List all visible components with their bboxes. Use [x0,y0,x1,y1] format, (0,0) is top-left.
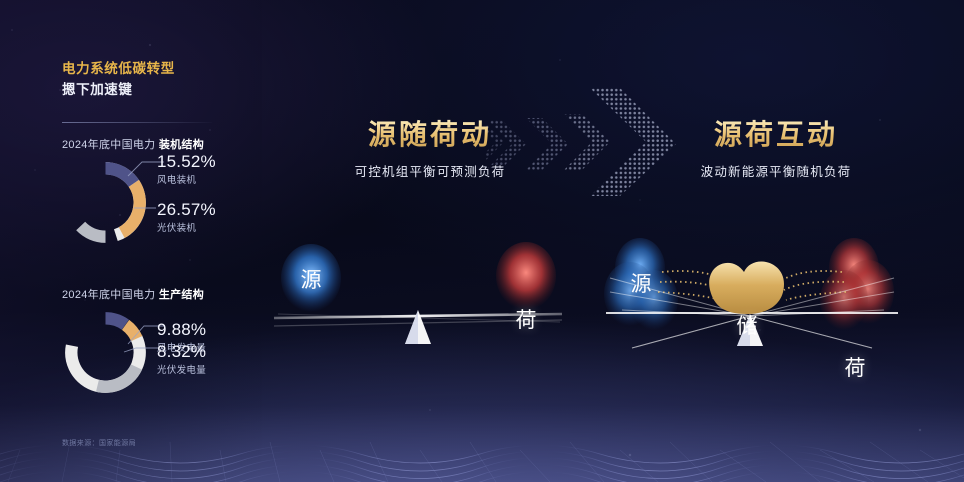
title-line-2: 摁下加速键 [62,80,252,99]
stats-sidebar: 电力系统低碳转型 摁下加速键 2024年底中国电力 装机结构 15.52% 风电… [0,0,262,482]
stat-value-solar-capacity: 26.57% [157,200,216,219]
orb-label-load-left: 荷 [505,298,547,340]
title-divider [62,122,212,123]
headline-left-subtitle: 可控机组平衡可预测负荷 [330,161,530,180]
donut-chart-capacity [58,155,153,250]
headline-right-title: 源荷互动 [666,118,886,152]
slide-canvas: 电力系统低碳转型 摁下加速键 2024年底中国电力 装机结构 15.52% 风电… [0,0,964,482]
section-heading-capacity-strong: 装机结构 [159,139,204,151]
orb-label-source-right: 源 [620,262,662,304]
diagram-source-load-interaction: 源 储 荷 [592,218,912,376]
diagram-source-follows-load: 源 荷 [268,222,568,372]
stat-caption-solar-generation: 光伏发电量 [157,362,206,376]
section-heading-capacity-prefix: 2024年底中国电力 [62,139,159,151]
orb-label-source-left: 源 [290,258,332,300]
stat-label-solar-capacity: 26.57% 光伏装机 [157,200,216,234]
source-note: 数据来源：国家能源局 [62,438,136,448]
stat-value-wind-capacity: 15.52% [157,152,216,171]
headline-right-subtitle: 波动新能源平衡随机负荷 [666,161,886,180]
section-heading-generation: 2024年底中国电力 生产结构 [62,286,204,302]
section-heading-generation-prefix: 2024年底中国电力 [62,289,159,301]
stat-label-wind-capacity: 15.52% 风电装机 [157,152,216,186]
stat-caption-wind-capacity: 风电装机 [157,172,216,186]
headline-right: 源荷互动 波动新能源平衡随机负荷 [666,118,886,180]
title-line-1: 电力系统低碳转型 [62,60,252,78]
section-heading-generation-strong: 生产结构 [159,289,204,301]
stat-label-solar-generation: 8.32% 光伏发电量 [157,342,206,376]
orb-label-load-right: 荷 [834,346,876,388]
headline-left: 源随荷动 可控机组平衡可预测负荷 [330,118,530,180]
stat-value-solar-generation: 8.32% [157,342,206,361]
headline-left-title: 源随荷动 [330,118,530,152]
donut-chart-generation [58,305,153,400]
orb-label-storage: 储 [726,304,768,346]
slide-title: 电力系统低碳转型 摁下加速键 [62,60,252,99]
stat-value-wind-generation: 9.88% [157,320,206,339]
stat-caption-solar-capacity: 光伏装机 [157,220,216,234]
section-heading-capacity: 2024年底中国电力 装机结构 [62,136,204,152]
